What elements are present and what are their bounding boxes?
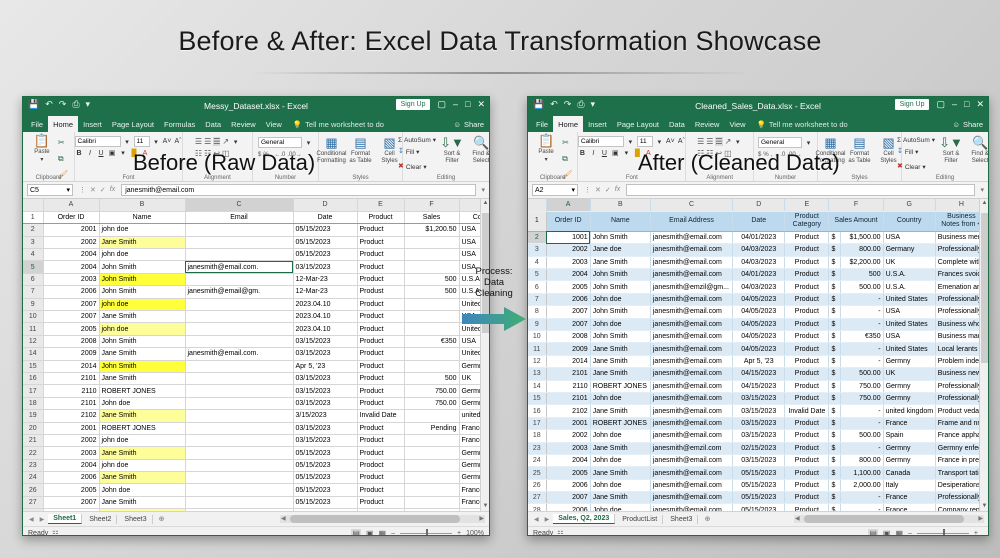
cell-F5-before[interactable]	[404, 261, 459, 273]
header-cell-f-after[interactable]: Sales Amount	[829, 211, 883, 231]
sign-up-button-after[interactable]: Sign Up	[895, 99, 930, 110]
row-header-4-after[interactable]: 4	[528, 256, 546, 268]
row-header-10-after[interactable]: 10	[528, 331, 546, 343]
cell-F17-after[interactable]: $	[829, 417, 841, 429]
cell-D4-after[interactable]: 04/03/2023	[733, 256, 785, 268]
cell-E15-after[interactable]: Product	[785, 392, 829, 404]
cell-B8-after[interactable]: John Smith	[590, 306, 650, 318]
cell-D10-before[interactable]: 2023.04.10	[293, 311, 357, 323]
cell-D3-after[interactable]: 04/03/2023	[733, 244, 785, 256]
cell-F24-before[interactable]	[404, 472, 459, 484]
cell-G7-after[interactable]: United States	[883, 293, 935, 305]
sheet-nav-prev-icon-after[interactable]: ◀	[532, 516, 541, 523]
cell-D5-before[interactable]: 03/15/2023	[293, 261, 357, 273]
cell-D12-before[interactable]: 03/15/2023	[293, 335, 357, 347]
cell-F23-after[interactable]: -	[841, 442, 883, 454]
cell-F5-after[interactable]: $	[829, 269, 841, 281]
row-header-6-before[interactable]: 6	[23, 273, 43, 285]
row-header-5-before[interactable]: 5	[23, 261, 43, 273]
cell-E4-after[interactable]: Product	[785, 256, 829, 268]
orientation-icon[interactable]: ↗	[222, 137, 229, 146]
row-header-23-before[interactable]: 23	[23, 459, 43, 471]
increase-font-size-icon-after[interactable]: A˅	[666, 138, 675, 145]
cell-F6-before[interactable]: 500	[404, 273, 459, 285]
cell-A9-after[interactable]: 2007	[546, 318, 590, 330]
cell-E5-after[interactable]: Product	[785, 269, 829, 281]
cut-icon[interactable]: ✂	[58, 136, 68, 150]
tab-page-layout-before[interactable]: Page Layout	[107, 116, 159, 132]
cell-D24-before[interactable]: 05/15/2023	[293, 472, 357, 484]
cell-A26-before[interactable]: 2005	[43, 484, 99, 496]
cell-E1-before[interactable]: Product	[357, 211, 404, 223]
sheet-nav-prev-icon-before[interactable]: ◀	[27, 516, 36, 523]
header-cell-a-after[interactable]: Order ID	[546, 211, 590, 231]
cell-A26-after[interactable]: 2006	[546, 479, 590, 491]
cell-D1-before[interactable]: Date	[293, 211, 357, 223]
cell-D14-before[interactable]: 03/15/2023	[293, 348, 357, 360]
cell-E12-before[interactable]: Product	[357, 335, 404, 347]
sheet-tab-strip-before[interactable]: ◀ ▶ Sheet1 Sheet2 Sheet3 ⊕ ◀ ▶	[23, 511, 489, 526]
cut-icon-after[interactable]: ✂	[562, 136, 572, 150]
copy-icon-after[interactable]: ⧉	[562, 152, 572, 166]
cell-F14-after[interactable]: $	[829, 380, 841, 392]
cell-G13-after[interactable]: UK	[883, 368, 935, 380]
cell-C9-before[interactable]	[185, 298, 293, 310]
number-format-box-after[interactable]: General	[758, 137, 802, 148]
cell-B26-after[interactable]: John doe	[590, 479, 650, 491]
cell-G3-after[interactable]: Germany	[883, 244, 935, 256]
cell-A13-after[interactable]: 2101	[546, 368, 590, 380]
cell-C18-after[interactable]: janesmith@email.com	[650, 430, 732, 442]
cell-F9-before[interactable]	[404, 298, 459, 310]
cell-D13-after[interactable]: 04/15/2023	[733, 368, 785, 380]
font-size-box-after[interactable]: 11	[637, 136, 653, 147]
cell-C16-before[interactable]	[185, 372, 293, 384]
cell-C4-after[interactable]: janesmith@email.com	[650, 256, 732, 268]
row-header-2-after[interactable]: 2	[528, 231, 546, 243]
sort-filter-button-before[interactable]: ⇩▼ Sort & Filter	[439, 136, 465, 165]
cell-E7-after[interactable]: Product	[785, 293, 829, 305]
cell-F14-after[interactable]: 750.00	[841, 380, 883, 392]
cell-D26-after[interactable]: 05/15/2023	[733, 479, 785, 491]
row-header-22-before[interactable]: 22	[23, 447, 43, 459]
row-header-11-after[interactable]: 11	[528, 343, 546, 355]
cell-A27-before[interactable]: 2007	[43, 496, 99, 508]
number-format-box-before[interactable]: General	[258, 137, 302, 148]
tab-page-layout-after[interactable]: Page Layout	[612, 116, 664, 132]
cell-E24-after[interactable]: Product	[785, 454, 829, 466]
row-header-6-after[interactable]: 6	[528, 281, 546, 293]
cell-F19-before[interactable]	[404, 410, 459, 422]
cell-D3-before[interactable]: 05/15/2023	[293, 236, 357, 248]
insert-function-icon-after[interactable]: fx	[615, 186, 620, 194]
row-header-28-after[interactable]: 28	[528, 504, 546, 511]
cell-C7-before[interactable]: janesmith@email@gm.	[185, 286, 293, 298]
cell-D23-before[interactable]: 05/15/2023	[293, 459, 357, 471]
cell-C17-before[interactable]	[185, 385, 293, 397]
cell-A9-before[interactable]: 2007	[43, 298, 99, 310]
cell-F24-after[interactable]: 800.00	[841, 454, 883, 466]
cell-D8-after[interactable]: 04/05/2023	[733, 306, 785, 318]
cell-C15-after[interactable]: janesmith@email.com	[650, 392, 732, 404]
vertical-scroll-thumb-after[interactable]	[981, 213, 988, 363]
cell-F22-before[interactable]	[404, 447, 459, 459]
cell-D28-after[interactable]: 05/15/2023	[733, 504, 785, 511]
cell-C5-before[interactable]: janesmith@email.com.	[185, 261, 293, 273]
row-header-16-after[interactable]: 16	[528, 405, 546, 417]
cell-A25-after[interactable]: 2005	[546, 467, 590, 479]
cell-A28-after[interactable]: 2006	[546, 504, 590, 511]
cell-C23-after[interactable]: janesmith@emzil.com	[650, 442, 732, 454]
cell-E14-after[interactable]: Product	[785, 380, 829, 392]
cell-E4-before[interactable]: Product	[357, 249, 404, 261]
cell-D16-after[interactable]: 03/15/2023	[733, 405, 785, 417]
cell-B10-after[interactable]: John Smith	[590, 331, 650, 343]
cell-F3-before[interactable]	[404, 236, 459, 248]
cell-G27-after[interactable]: France	[883, 492, 935, 504]
cell-C26-after[interactable]: janesmith@email.com	[650, 479, 732, 491]
tab-home-after[interactable]: Home	[553, 116, 583, 132]
tab-review-after[interactable]: Review	[690, 116, 725, 132]
header-cell-b-after[interactable]: Name	[590, 211, 650, 231]
horizontal-scroll-thumb-before[interactable]	[290, 515, 460, 523]
cell-G6-after[interactable]: U.S.A.	[883, 281, 935, 293]
cell-C24-before[interactable]	[185, 472, 293, 484]
close-icon-before[interactable]: ✕	[477, 100, 485, 109]
cell-F28-after[interactable]: $	[829, 504, 841, 511]
paste-chevron-down-icon[interactable]: ▾	[40, 157, 43, 164]
cell-D2-after[interactable]: 04/01/2023	[733, 231, 785, 243]
cell-E5-before[interactable]: Product	[357, 261, 404, 273]
scroll-up-icon-before[interactable]: ▲	[481, 199, 489, 208]
column-header-d-after[interactable]: D	[733, 199, 785, 211]
cell-D23-after[interactable]: 02/15/2023	[733, 442, 785, 454]
fill-button-after[interactable]: ↧ Fill ▾	[897, 145, 935, 159]
cell-F28-after[interactable]: -	[841, 504, 883, 511]
cell-B26-before[interactable]: John doe	[99, 484, 185, 496]
cell-F25-after[interactable]: $	[829, 467, 841, 479]
cell-C22-before[interactable]	[185, 447, 293, 459]
cell-A11-before[interactable]: 2005	[43, 323, 99, 335]
cell-B14-after[interactable]: ROBERT JONES	[590, 380, 650, 392]
row-header-7-before[interactable]: 7	[23, 286, 43, 298]
tell-me-box-after[interactable]: 💡 Tell me worksheet to do	[751, 116, 848, 132]
decrease-font-size-icon-after[interactable]: Aˆ	[677, 138, 686, 145]
cell-A4-before[interactable]: 2004	[43, 249, 99, 261]
align-left-icon-after[interactable]: ☰	[697, 137, 704, 146]
cell-E16-after[interactable]: Invalid Date	[785, 405, 829, 417]
clear-button-before[interactable]: ✖ Clear ▾	[398, 160, 436, 174]
cell-E11-after[interactable]: Product	[785, 343, 829, 355]
autosum-button-before[interactable]: Σ AutoSum ▾	[398, 136, 436, 144]
cell-D27-before[interactable]: 05/15/2023	[293, 496, 357, 508]
cell-A27-after[interactable]: 2007	[546, 492, 590, 504]
cell-D7-after[interactable]: 04/05/2023	[733, 293, 785, 305]
cell-B19-before[interactable]: Jane Smith	[99, 410, 185, 422]
cell-B4-after[interactable]: Jane Smith	[590, 256, 650, 268]
formula-expand-icon-before[interactable]: ⋮	[79, 186, 86, 194]
cell-B9-after[interactable]: John doe	[590, 318, 650, 330]
cell-F14-before[interactable]	[404, 348, 459, 360]
cell-F27-after[interactable]: $	[829, 492, 841, 504]
cell-F26-after[interactable]: 2,000.00	[841, 479, 883, 491]
formula-input-before[interactable]: janesmith@email.com	[121, 184, 476, 196]
row-header-19-before[interactable]: 19	[23, 410, 43, 422]
sign-up-button-before[interactable]: Sign Up	[396, 99, 431, 110]
cell-B12-after[interactable]: Jane Smith	[590, 355, 650, 367]
bold-button[interactable]: B	[75, 150, 84, 157]
grid-after[interactable]: ABCDEFGH1Order IDNameEmail AddressDatePr…	[528, 199, 988, 511]
cell-B20-before[interactable]: ROBERT JONES	[99, 422, 185, 434]
cell-A6-before[interactable]: 2003	[43, 273, 99, 285]
cell-F11-before[interactable]	[404, 323, 459, 335]
row-header-15-after[interactable]: 15	[528, 392, 546, 404]
cell-A7-after[interactable]: 2006	[546, 293, 590, 305]
sheet-tab-sheet3[interactable]: Sheet3	[119, 515, 152, 524]
cell-F17-before[interactable]: 750.00	[404, 385, 459, 397]
cell-F2-after[interactable]: $1,500.00	[841, 231, 883, 243]
row-header-17-after[interactable]: 17	[528, 417, 546, 429]
cell-C7-after[interactable]: janesmith@email.com	[650, 293, 732, 305]
cell-C12-after[interactable]: janesmith@email.com	[650, 355, 732, 367]
cell-E13-after[interactable]: Product	[785, 368, 829, 380]
cell-B6-before[interactable]: John Smith	[99, 273, 185, 285]
cell-C2-before[interactable]	[185, 224, 293, 236]
cell-C24-after[interactable]: janesmith@email.com	[650, 454, 732, 466]
vertical-scrollbar-before[interactable]: ▲ ▼	[480, 199, 489, 511]
row-header-14-after[interactable]: 14	[528, 380, 546, 392]
cell-A3-after[interactable]: 2002	[546, 244, 590, 256]
cell-G23-after[interactable]: Germny	[883, 442, 935, 454]
cell-A14-before[interactable]: 2009	[43, 348, 99, 360]
align-right-icon-after[interactable]: ☰	[715, 137, 722, 146]
close-icon-after[interactable]: ✕	[976, 100, 984, 109]
row-header-26-before[interactable]: 26	[23, 484, 43, 496]
autosum-chevron-down-icon[interactable]: ▾	[433, 136, 436, 144]
cell-F7-before[interactable]: 500	[404, 286, 459, 298]
cell-E10-before[interactable]: Product	[357, 311, 404, 323]
cell-B4-before[interactable]: john doe	[99, 249, 185, 261]
cell-C6-after[interactable]: janesmith@emzil@gm...	[650, 281, 732, 293]
formula-bar-chevron-down-icon-after[interactable]: ▾	[978, 186, 984, 194]
cell-E3-after[interactable]: Product	[785, 244, 829, 256]
cell-D10-after[interactable]: 04/05/2023	[733, 331, 785, 343]
cell-B11-before[interactable]: john doe	[99, 323, 185, 335]
cell-B9-before[interactable]: john doe	[99, 298, 185, 310]
cell-A16-after[interactable]: 2102	[546, 405, 590, 417]
cell-A20-before[interactable]: 2001	[43, 422, 99, 434]
cell-E6-before[interactable]: Product	[357, 273, 404, 285]
borders-icon-after[interactable]: ▣	[611, 149, 620, 157]
underline-button[interactable]: U	[97, 150, 106, 157]
cell-A1-before[interactable]: Order ID	[43, 211, 99, 223]
cell-B13-after[interactable]: Jane Smith	[590, 368, 650, 380]
cell-D14-after[interactable]: 04/15/2023	[733, 380, 785, 392]
cell-F15-after[interactable]: 750.00	[841, 392, 883, 404]
zoom-out-icon-after[interactable]: –	[908, 530, 912, 536]
cell-B18-after[interactable]: John doe	[590, 430, 650, 442]
cell-F27-before[interactable]	[404, 496, 459, 508]
chevron-down-icon-borders[interactable]: ▾	[119, 149, 128, 157]
cell-C19-before[interactable]	[185, 410, 293, 422]
cell-E9-before[interactable]: Product	[357, 298, 404, 310]
row-header-24-after[interactable]: 24	[528, 454, 546, 466]
cell-E6-after[interactable]: Product	[785, 281, 829, 293]
cell-B7-after[interactable]: John doe	[590, 293, 650, 305]
paste-button-after[interactable]: 📋 Paste ▾	[533, 134, 559, 164]
cell-F7-after[interactable]: $	[829, 293, 841, 305]
fill-button-before[interactable]: ↧ Fill ▾	[398, 145, 436, 159]
cell-F13-after[interactable]: $	[829, 368, 841, 380]
cell-A19-before[interactable]: 2102	[43, 410, 99, 422]
zoom-slider-knob-before[interactable]	[426, 529, 428, 536]
cell-A14-after[interactable]: 2110	[546, 380, 590, 392]
font-name-chevron-down-icon-after[interactable]: ▾	[626, 138, 635, 146]
row-header-18-after[interactable]: 18	[528, 430, 546, 442]
sheet-tab-sheet1[interactable]: Sheet1	[48, 514, 82, 524]
number-format-chevron-down-icon-after[interactable]: ▾	[804, 139, 813, 147]
fill-chevron-down-icon-after[interactable]: ▾	[915, 148, 918, 156]
horizontal-scroll-thumb-after[interactable]	[804, 515, 964, 523]
cell-F25-after[interactable]: 1,100.00	[841, 467, 883, 479]
insert-function-icon-before[interactable]: fx	[110, 186, 115, 194]
cell-D22-before[interactable]: 05/15/2023	[293, 447, 357, 459]
page-layout-view-icon-before[interactable]: ▣	[366, 529, 374, 536]
column-header-b-after[interactable]: B	[590, 199, 650, 211]
align-center-icon-after[interactable]: ☰	[706, 137, 713, 146]
cell-G17-after[interactable]: France	[883, 417, 935, 429]
cell-C14-after[interactable]: janesmith@email.com	[650, 380, 732, 392]
cell-B25-after[interactable]: Jane Smith	[590, 467, 650, 479]
cell-C21-before[interactable]	[185, 434, 293, 446]
tab-file-after[interactable]: File	[531, 116, 553, 132]
tab-review-before[interactable]: Review	[226, 116, 261, 132]
cell-G2-after[interactable]: USA	[883, 231, 935, 243]
cell-G15-after[interactable]: Germny	[883, 392, 935, 404]
column-header-g-after[interactable]: G	[883, 199, 935, 211]
cell-F12-after[interactable]: $	[829, 355, 841, 367]
cell-C11-after[interactable]: janesmith@email.com	[650, 343, 732, 355]
cell-E27-before[interactable]: Product	[357, 496, 404, 508]
cell-G25-after[interactable]: Canada	[883, 467, 935, 479]
cell-F23-after[interactable]: $	[829, 442, 841, 454]
cell-C20-before[interactable]	[185, 422, 293, 434]
cell-D6-before[interactable]: 12-Mar-23	[293, 273, 357, 285]
row-header-8-after[interactable]: 8	[528, 306, 546, 318]
scroll-down-icon-before[interactable]: ▼	[481, 502, 489, 511]
cell-F1-before[interactable]: Sales	[404, 211, 459, 223]
cell-D12-after[interactable]: Apr 5, '23	[733, 355, 785, 367]
row-header-13-after[interactable]: 13	[528, 368, 546, 380]
page-layout-view-icon-after[interactable]: ▣	[883, 529, 891, 536]
format-as-table-button-before[interactable]: ▤ Format as Table	[348, 136, 374, 165]
cell-E2-before[interactable]: Product	[357, 224, 404, 236]
cell-D20-before[interactable]: 03/15/2023	[293, 422, 357, 434]
increase-font-size-icon[interactable]: A˅	[163, 138, 172, 145]
header-cell-g-after[interactable]: Country	[883, 211, 935, 231]
header-cell-e-after[interactable]: Product Category	[785, 211, 829, 231]
formula-input-after[interactable]	[626, 184, 975, 196]
cell-B16-after[interactable]: Jane Smith	[590, 405, 650, 417]
grid-before[interactable]: ABCDEFG1Order IDNameEmailDateProductSale…	[23, 199, 489, 511]
cell-C26-before[interactable]	[185, 484, 293, 496]
paste-button-before[interactable]: 📋 Paste ▾	[29, 134, 55, 164]
cell-E7-before[interactable]: Produst	[357, 286, 404, 298]
cell-A8-after[interactable]: 2007	[546, 306, 590, 318]
cell-F18-after[interactable]: $	[829, 430, 841, 442]
cell-B5-before[interactable]: John Smith	[99, 261, 185, 273]
cell-E19-before[interactable]: Invalid Date	[357, 410, 404, 422]
underline-button-after[interactable]: U	[600, 150, 609, 157]
cell-F5-after[interactable]: 500	[841, 269, 883, 281]
cell-F27-after[interactable]: -	[841, 492, 883, 504]
italic-button-after[interactable]: I	[589, 150, 598, 157]
row-header-9-after[interactable]: 9	[528, 318, 546, 330]
cell-E9-after[interactable]: Product	[785, 318, 829, 330]
page-break-view-icon-after[interactable]: ▦	[895, 529, 903, 536]
row-header-14-before[interactable]: 14	[23, 348, 43, 360]
font-name-box-after[interactable]: Calibri	[578, 136, 624, 147]
cell-D21-before[interactable]: 03/15/2023	[293, 434, 357, 446]
accessibility-icon-after[interactable]: ☷	[557, 530, 563, 537]
cell-B17-before[interactable]: ROBERT JONES	[99, 385, 185, 397]
cell-B2-before[interactable]: john doe	[99, 224, 185, 236]
maximize-icon-before[interactable]: □	[465, 100, 470, 109]
cell-A24-after[interactable]: 2004	[546, 454, 590, 466]
cell-E21-before[interactable]: Product	[357, 434, 404, 446]
zoom-slider-knob-after[interactable]	[943, 529, 945, 536]
cell-D26-before[interactable]: 05/15/2023	[293, 484, 357, 496]
cell-F26-after[interactable]: $	[829, 479, 841, 491]
cell-D15-after[interactable]: 03/15/2023	[733, 392, 785, 404]
cell-D15-before[interactable]: Apr 5, '23	[293, 360, 357, 372]
name-box-chevron-down-icon[interactable]: ▾	[66, 186, 70, 194]
column-header-d-before[interactable]: D	[293, 199, 357, 211]
header-cell-d-after[interactable]: Date	[733, 211, 785, 231]
cell-D17-before[interactable]: 03/15/2023	[293, 385, 357, 397]
zoom-in-icon-before[interactable]: +	[457, 530, 461, 536]
cell-A5-after[interactable]: 2004	[546, 269, 590, 281]
copy-icon[interactable]: ⧉	[58, 152, 68, 166]
share-button-after[interactable]: ☺ Share	[952, 116, 983, 132]
cell-G16-after[interactable]: united kingdom	[883, 405, 935, 417]
row-header-9-before[interactable]: 9	[23, 298, 43, 310]
cell-F4-before[interactable]	[404, 249, 459, 261]
cell-F16-after[interactable]: $	[829, 405, 841, 417]
vertical-scrollbar-after[interactable]: ▲ ▼	[979, 199, 988, 511]
find-select-button-after[interactable]: 🔍 Find & Select	[967, 136, 989, 165]
cell-D2-before[interactable]: 05/15/2023	[293, 224, 357, 236]
cell-B2-after[interactable]: John Smith	[590, 231, 650, 243]
cell-B15-after[interactable]: John doe	[590, 392, 650, 404]
sheet-tab-sheet3-after[interactable]: Sheet3	[665, 515, 698, 524]
cell-E22-before[interactable]: Product	[357, 447, 404, 459]
cell-C1-before[interactable]: Email	[185, 211, 293, 223]
cell-G5-after[interactable]: U.S.A.	[883, 269, 935, 281]
cell-E16-before[interactable]: Product	[357, 372, 404, 384]
cell-C12-before[interactable]	[185, 335, 293, 347]
row-header-7-after[interactable]: 7	[528, 293, 546, 305]
cell-F6-after[interactable]: $	[829, 281, 841, 293]
cell-E26-after[interactable]: Product	[785, 479, 829, 491]
cell-E15-before[interactable]: Product	[357, 360, 404, 372]
cell-G12-after[interactable]: Germny	[883, 355, 935, 367]
cell-E27-after[interactable]: Product	[785, 492, 829, 504]
column-header-a-before[interactable]: A	[43, 199, 99, 211]
cell-C16-after[interactable]: janesmith@email.com	[650, 405, 732, 417]
column-header-e-after[interactable]: E	[785, 199, 829, 211]
row-header-16-before[interactable]: 16	[23, 372, 43, 384]
